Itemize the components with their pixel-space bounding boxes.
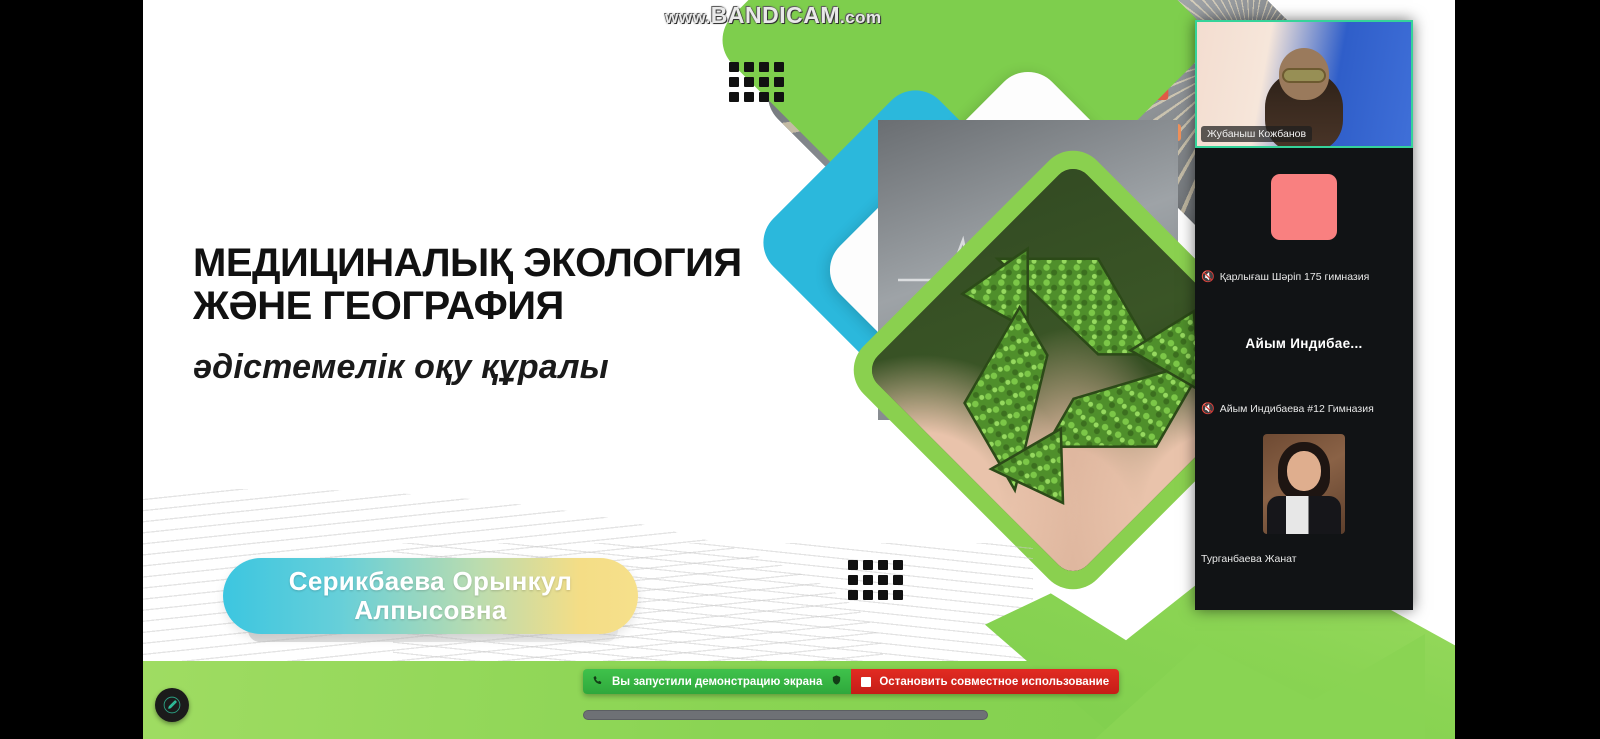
glasses-icon (1282, 68, 1326, 83)
participant-name: Турганбаева Жанат (1201, 553, 1297, 565)
participant-name: Қарлығаш Шәріп 175 гимназия (1220, 271, 1370, 283)
stop-share-button[interactable]: Остановить совместное использование (851, 669, 1119, 694)
phone-icon (592, 675, 603, 689)
author-name-pill: Серикбаева Орынкул Алпысовна (223, 558, 638, 634)
author-name: Серикбаева Орынкул Алпысовна (223, 567, 638, 624)
shared-screen-content: МЕДИЦИНАЛЫҚ ЭКОЛОГИЯ ЖӘНЕ ГЕОГРАФИЯ әдіс… (143, 0, 1455, 739)
watermark-brand: BANDICAM (711, 2, 840, 28)
shield-icon[interactable] (831, 674, 842, 689)
muted-microphone-icon: 🔇 (1201, 404, 1215, 415)
watermark-prefix: www. (665, 8, 711, 27)
slide-title: МЕДИЦИНАЛЫҚ ЭКОЛОГИЯ ЖӘНЕ ГЕОГРАФИЯ (193, 242, 833, 328)
participant-name-row: 🔇 Қарлығаш Шәріп 175 гимназия (1195, 266, 1413, 288)
letterbox-left (0, 0, 143, 739)
participant-tile-avatar[interactable] (1195, 148, 1413, 266)
participant-body (1267, 496, 1341, 534)
dot-grid-decoration-top (729, 62, 784, 102)
participant-filmstrip[interactable]: Жубаныш Кожбанов 🔇 Қарлығаш Шәріп 175 ги… (1195, 20, 1413, 610)
slide-subtitle: әдістемелік оқу құралы (193, 348, 833, 387)
avatar (1263, 434, 1345, 534)
stop-share-label: Остановить совместное использование (879, 676, 1109, 688)
participant-name-badge: Жубаныш Кожбанов (1201, 126, 1312, 142)
share-status-text: Вы запустили демонстрацию экрана (612, 676, 822, 688)
participant-tile-video[interactable]: Жубаныш Кожбанов (1195, 20, 1413, 148)
scrollbar-thumb[interactable] (583, 710, 988, 720)
watermark-suffix: .com (840, 8, 882, 27)
letterbox-right (1455, 0, 1600, 739)
screen-recording-frame: МЕДИЦИНАЛЫҚ ЭКОЛОГИЯ ЖӘНЕ ГЕОГРАФИЯ әдіс… (0, 0, 1600, 739)
participant-face (1287, 451, 1321, 491)
participant-display-name: Айым Индибае... (1245, 336, 1362, 351)
participant-name: Айым Индибаева #12 Гимназия (1220, 403, 1374, 415)
muted-microphone-icon: 🔇 (1201, 272, 1215, 283)
participant-name-row: 🔇 Айым Индибаева #12 Гимназия (1195, 398, 1413, 420)
participant-tile-name-only[interactable]: Айым Индибае... (1195, 288, 1413, 398)
participant-tile-photo[interactable] (1195, 420, 1413, 548)
horizontal-scrollbar[interactable] (143, 708, 1455, 722)
participant-name-row: Турганбаева Жанат (1195, 548, 1413, 570)
participant-name: Жубаныш Кожбанов (1207, 128, 1306, 140)
stop-square-icon (861, 677, 871, 687)
screen-share-status-bar: Вы запустили демонстрацию экрана Останов… (583, 669, 1119, 694)
dot-grid-decoration-bottom (848, 560, 903, 600)
bandicam-watermark: www.BANDICAM.com (665, 2, 882, 29)
avatar (1271, 174, 1337, 240)
share-status-segment[interactable]: Вы запустили демонстрацию экрана (583, 669, 851, 694)
